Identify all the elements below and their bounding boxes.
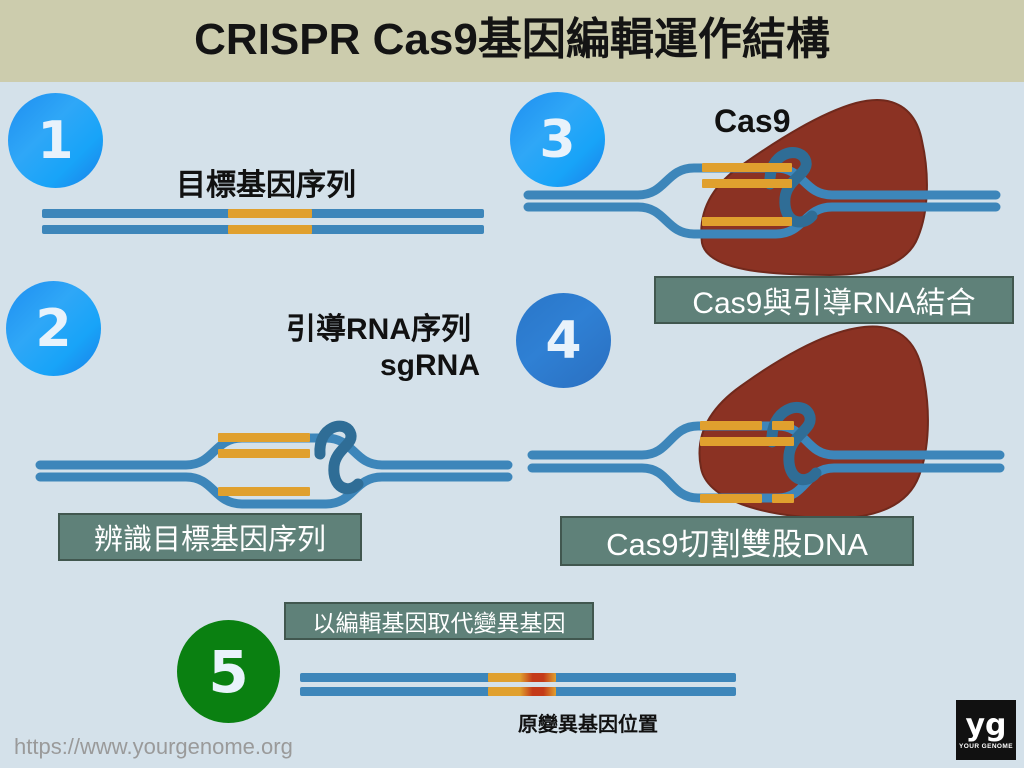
step2-caption: 引導RNA序列 — [286, 304, 471, 348]
step2-caption-sgrna: sgRNA — [380, 349, 480, 383]
page-title: CRISPR Cas9基因編輯運作結構 — [0, 8, 1024, 72]
step-number-5: 5 — [208, 638, 248, 706]
yourgenome-logo: yg YOUR GENOME — [956, 700, 1016, 760]
step-marker-2: 2 — [6, 281, 101, 376]
step3-tag: Cas9與引導RNA結合 — [654, 276, 1014, 324]
logo-mark: yg — [965, 711, 1006, 741]
step1-caption: 目標基因序列 — [176, 160, 356, 204]
step-marker-1: 1 — [8, 93, 103, 188]
step4-dna-bubble — [528, 400, 1024, 530]
step-marker-5: 5 — [177, 620, 280, 723]
mutation-site-bottom — [520, 687, 556, 696]
step-marker-4: 4 — [516, 293, 611, 388]
step1-target-segment-bottom — [228, 225, 312, 234]
logo-text: YOUR GENOME — [959, 743, 1013, 750]
step-number-4: 4 — [545, 311, 581, 371]
step2-tag: 辨識目標基因序列 — [58, 513, 362, 561]
step5-caption: 原變異基因位置 — [518, 708, 658, 737]
diagram-canvas: CRISPR Cas9基因編輯運作結構 1 目標基因序列 2 引導RNA序列 s… — [0, 0, 1024, 768]
step1-target-segment-top — [228, 209, 312, 218]
step-number-2: 2 — [35, 299, 71, 359]
mutation-site-top — [520, 673, 556, 682]
step-number-1: 1 — [37, 111, 73, 171]
site-url: https://www.yourgenome.org — [14, 734, 293, 760]
step5-tag: 以編輯基因取代變異基因 — [284, 602, 594, 640]
step4-tag: Cas9切割雙股DNA — [560, 516, 914, 566]
